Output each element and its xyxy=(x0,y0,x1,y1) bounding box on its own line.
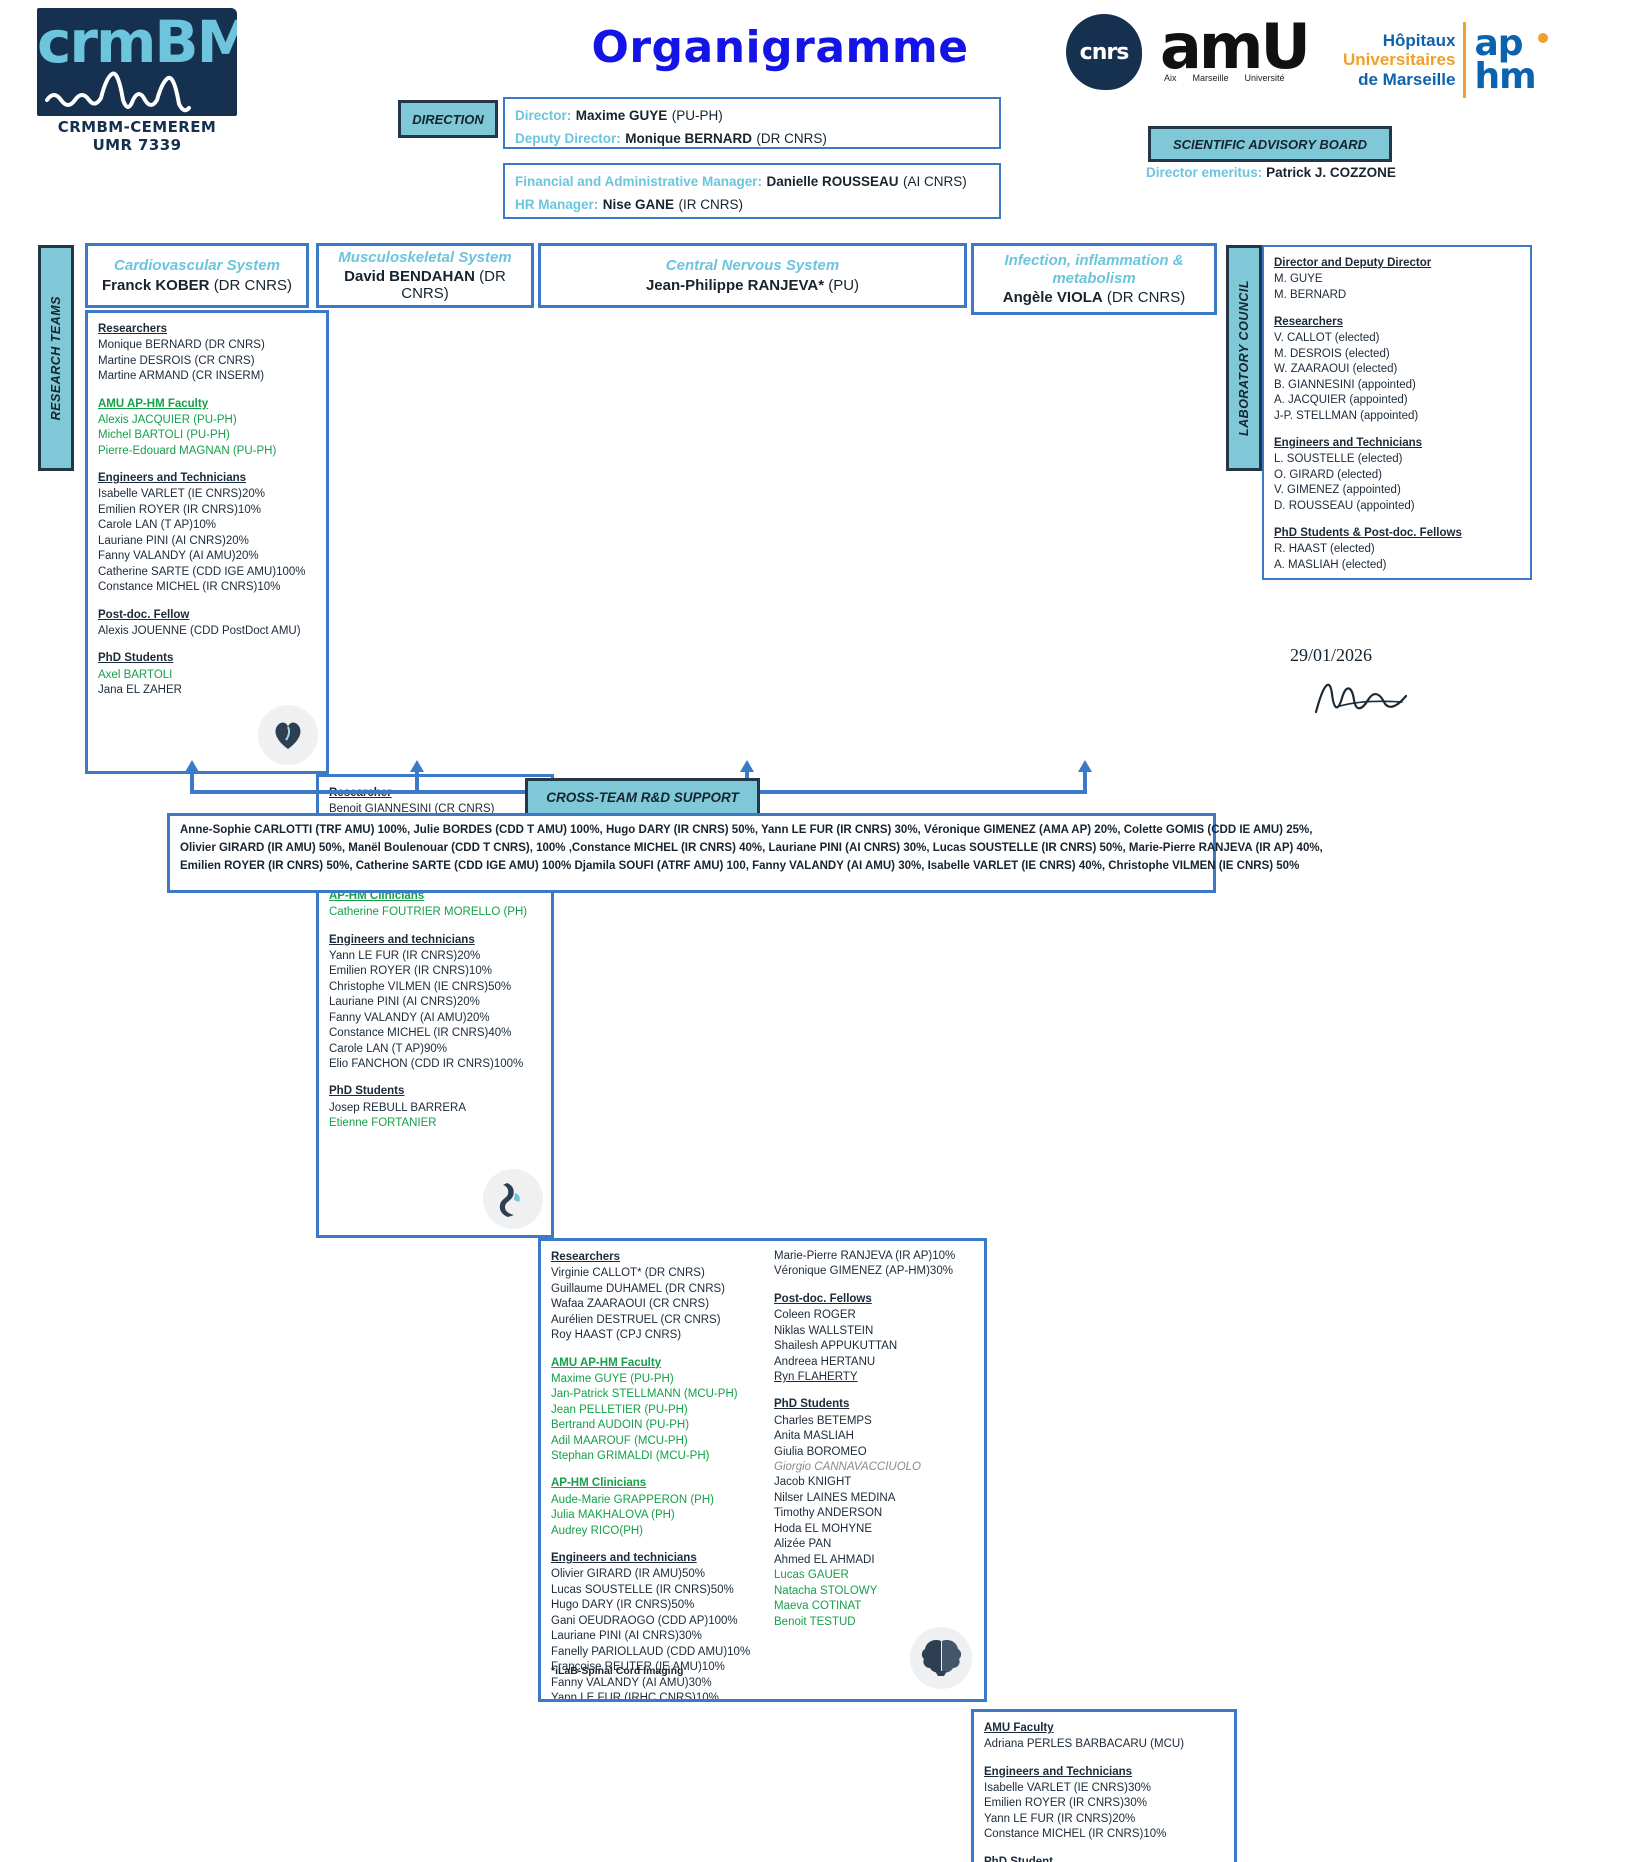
director-emeritus-row: Director emeritus: Patrick J. COZZONE xyxy=(1146,165,1396,180)
page-title: Organigramme xyxy=(520,22,1040,73)
team-name-cns: Central Nervous System xyxy=(666,257,839,274)
member-row: Monique BERNARD (DR CNRS) xyxy=(98,338,316,353)
council-member-row: L. SOUSTELLE (elected) xyxy=(1274,452,1520,467)
member-row: Adil MAAROUF (MCU-PH) xyxy=(551,1434,756,1449)
council-member-row: M. BERNARD xyxy=(1274,288,1520,303)
laboratory-council-side-label: LABORATORY COUNCIL xyxy=(1226,245,1262,471)
section-heading: Engineers and technicians xyxy=(329,932,541,949)
member-row: Coleen ROGER xyxy=(774,1308,959,1323)
arrow-up-icon-cns xyxy=(739,760,755,774)
aphm-dot-icon xyxy=(1538,33,1548,43)
member-row: Emilien ROYER (IR CNRS)10% xyxy=(98,503,316,518)
member-row: Hugo DARY (IR CNRS)50% xyxy=(551,1598,756,1613)
member-row: Ahmed EL AHMADI xyxy=(774,1553,959,1568)
section-heading: Researchers xyxy=(551,1249,756,1266)
member-row: Constance MICHEL (IR CNRS)10% xyxy=(98,580,316,595)
financial-manager-label: Financial and Administrative Manager: xyxy=(515,174,762,189)
member-row: Véronique GIMENEZ (AP-HM)30% xyxy=(774,1264,959,1279)
director-emeritus-name: Patrick J. COZZONE xyxy=(1266,165,1396,180)
section-heading: PhD Students xyxy=(329,1083,541,1100)
section-heading: AMU Faculty xyxy=(984,1720,1224,1737)
member-row: Fanelly PARIOLLAUD (CDD AMU)10% xyxy=(551,1645,756,1660)
member-row: Emilien ROYER (IR CNRS)30% xyxy=(984,1796,1224,1811)
aphm-hm-text: hm xyxy=(1474,60,1535,93)
team-leader-cardiovascular: Franck KOBER xyxy=(102,277,210,294)
director-name: Maxime GUYE xyxy=(576,108,668,123)
team-body-cns: ResearchersVirginie CALLOT* (DR CNRS)Gui… xyxy=(538,1238,987,1702)
council-member-row: A. JACQUIER (appointed) xyxy=(1274,393,1520,408)
member-row: Maeva COTINAT xyxy=(774,1599,959,1614)
amu-logo-text: amU xyxy=(1160,18,1330,77)
crmbm-logo: crmBM CRMBM-CEMEREM UMR 7339 xyxy=(37,8,237,133)
section-heading: Researchers xyxy=(98,321,316,338)
member-row: Olivier GIRARD (IR AMU)50% xyxy=(551,1567,756,1582)
section-spacer xyxy=(1274,424,1520,435)
member-row: Wafaa ZAARAOUI (CR CNRS) xyxy=(551,1297,756,1312)
member-row: Audrey RICO(PH) xyxy=(551,1524,756,1539)
council-member-row: V. GIMENEZ (appointed) xyxy=(1274,483,1520,498)
council-member-row: O. GIRARD (elected) xyxy=(1274,468,1520,483)
director-rank: (PU-PH) xyxy=(672,108,723,123)
crmbm-waveform-icon xyxy=(45,70,229,114)
section-spacer xyxy=(984,1843,1224,1854)
section-heading: AP-HM Clinicians xyxy=(551,1475,756,1492)
member-row: Timothy ANDERSON xyxy=(774,1506,959,1521)
amu-logo-sub-marseille: Marseille xyxy=(1193,73,1229,83)
member-row: Axel BARTOLI xyxy=(98,668,316,683)
member-row: Andreea HERTANU xyxy=(774,1355,959,1370)
team-header-cardiovascular[interactable]: Cardiovascular System Franck KOBER (DR C… xyxy=(85,243,309,308)
deputy-director-name: Monique BERNARD xyxy=(625,131,752,146)
laboratory-council-box: Director and Deputy DirectorM. GUYEM. BE… xyxy=(1262,245,1532,580)
section-spacer xyxy=(1274,514,1520,525)
cnrs-logo-text: cnrs xyxy=(1080,40,1129,65)
member-row: Niklas WALLSTEIN xyxy=(774,1324,959,1339)
section-spacer xyxy=(98,385,316,396)
aphm-line-1: Hôpitaux xyxy=(1343,31,1455,50)
member-row: Yann LE FUR (IRHC CNRS)10% xyxy=(551,1691,756,1702)
section-heading: PhD Students xyxy=(98,650,316,667)
team-name-musculoskeletal: Musculoskeletal System xyxy=(338,249,511,266)
amu-logo: amU Aix Marseille Université xyxy=(1160,18,1330,98)
team-body-cardiovascular: ResearchersMonique BERNARD (DR CNRS)Mart… xyxy=(85,310,329,774)
cnrs-logo: cnrs xyxy=(1066,14,1144,92)
section-spacer xyxy=(98,596,316,607)
cns-footnote: *iLaB-Spinal Cord Imaging xyxy=(551,1665,683,1677)
cns-column-left: ResearchersVirginie CALLOT* (DR CNRS)Gui… xyxy=(551,1249,756,1702)
aphm-line-3: de Marseille xyxy=(1343,70,1455,89)
scientific-advisory-board-chip: SCIENTIFIC ADVISORY BOARD xyxy=(1148,126,1392,162)
team-name-infection: Infection, inflammation & metabolism xyxy=(974,252,1214,287)
team-leader-rank-infection: (DR CNRS) xyxy=(1107,289,1185,306)
director-label: Director: xyxy=(515,108,571,123)
member-row: Christophe VILMEN (IE CNRS)50% xyxy=(329,980,541,995)
member-row: Isabelle VARLET (IE CNRS)30% xyxy=(984,1781,1224,1796)
council-member-row: M. DESROIS (elected) xyxy=(1274,347,1520,362)
member-row: Lucas GAUER xyxy=(774,1568,959,1583)
team-header-infection[interactable]: Infection, inflammation & metabolism Ang… xyxy=(971,243,1217,315)
member-row: Yann LE FUR (IR CNRS)20% xyxy=(984,1812,1224,1827)
council-member-row: A. MASLIAH (elected) xyxy=(1274,558,1520,573)
member-row: Maxime GUYE (PU-PH) xyxy=(551,1372,756,1387)
member-row: Catherine FOUTRIER MORELLO (PH) xyxy=(329,905,541,920)
member-row: Aude-Marie GRAPPERON (PH) xyxy=(551,1493,756,1508)
member-row: Catherine SARTE (CDD IGE AMU)100% xyxy=(98,565,316,580)
cross-team-support-box: Anne-Sophie CARLOTTI (TRF AMU) 100%, Jul… xyxy=(167,813,1216,893)
section-spacer xyxy=(774,1280,959,1291)
document-date: 29/01/2026 xyxy=(1290,645,1372,666)
member-row: Marie-Pierre RANJEVA (IR AP)10% xyxy=(774,1249,959,1264)
member-row: Stephan GRIMALDI (MCU-PH) xyxy=(551,1449,756,1464)
member-row: Giorgio CANNAVACCIUOLO xyxy=(774,1460,959,1475)
council-member-row: D. ROUSSEAU (appointed) xyxy=(1274,499,1520,514)
crmbm-logo-box: crmBM xyxy=(37,8,237,116)
section-spacer xyxy=(551,1464,756,1475)
member-row: Julia MAKHALOVA (PH) xyxy=(551,1508,756,1523)
member-row: Michel BARTOLI (PU-PH) xyxy=(98,428,316,443)
section-heading: Engineers and Technicians xyxy=(984,1764,1224,1781)
section-spacer xyxy=(329,921,541,932)
member-row: Jacob KNIGHT xyxy=(774,1475,959,1490)
financial-manager-name: Danielle ROUSSEAU xyxy=(767,174,899,189)
member-row: Martine ARMAND (CR INSERM) xyxy=(98,369,316,384)
aphm-divider xyxy=(1463,22,1466,98)
section-spacer xyxy=(984,1753,1224,1764)
team-leader-infection: Angèle VIOLA xyxy=(1003,289,1103,306)
member-row: Bertrand AUDOIN (PU-PH) xyxy=(551,1418,756,1433)
arrow-up-icon-msk xyxy=(409,760,425,774)
aphm-logo: Hôpitaux Universitaires de Marseille ap … xyxy=(1343,20,1543,100)
section-heading: PhD Student xyxy=(984,1854,1224,1862)
member-row: Giulia BOROMEO xyxy=(774,1445,959,1460)
team-leader-musculoskeletal: David BENDAHAN xyxy=(344,268,475,285)
cross-team-line: Emilien ROYER (IR CNRS) 50%, Catherine S… xyxy=(180,858,1203,876)
member-row: Natacha STOLOWY xyxy=(774,1584,959,1599)
section-spacer xyxy=(551,1344,756,1355)
member-row: Pierre-Edouard MAGNAN (PU-PH) xyxy=(98,444,316,459)
section-spacer xyxy=(551,1539,756,1550)
section-heading: Post-doc. Fellow xyxy=(98,607,316,624)
member-row: Josep REBULL BARRERA xyxy=(329,1101,541,1116)
member-row: Jan-Patrick STELLMANN (MCU-PH) xyxy=(551,1387,756,1402)
member-row: Elio FANCHON (CDD IR CNRS)100% xyxy=(329,1057,541,1072)
administration-box: Financial and Administrative Manager: Da… xyxy=(503,163,1001,219)
member-row: Nilser LAINES MEDINA xyxy=(774,1491,959,1506)
deputy-director-rank: (DR CNRS) xyxy=(756,131,827,146)
member-row: Aurélien DESTRUEL (CR CNRS) xyxy=(551,1313,756,1328)
team-leader-rank-cardiovascular: (DR CNRS) xyxy=(214,277,292,294)
director-emeritus-label: Director emeritus: xyxy=(1146,165,1262,180)
crmbm-logo-text: crmBM xyxy=(37,13,237,71)
member-row: Adriana PERLES BARBACARU (MCU) xyxy=(984,1737,1224,1752)
member-row: Roy HAAST (CPJ CNRS) xyxy=(551,1328,756,1343)
team-header-musculoskeletal[interactable]: Musculoskeletal System David BENDAHAN (D… xyxy=(316,243,534,308)
member-row: Anita MASLIAH xyxy=(774,1429,959,1444)
member-row: Lauriane PINI (AI CNRS)20% xyxy=(329,995,541,1010)
member-row: Fanny VALANDY (AI AMU)20% xyxy=(329,1011,541,1026)
amu-logo-sub-universite: Université xyxy=(1245,73,1285,83)
heart-icon xyxy=(258,705,318,765)
direction-chip: DIRECTION xyxy=(398,100,498,138)
council-member-row: B. GIANNESINI (appointed) xyxy=(1274,378,1520,393)
member-row: Constance MICHEL (IR CNRS)10% xyxy=(984,1827,1224,1842)
member-row: Carole LAN (T AP)90% xyxy=(329,1042,541,1057)
member-row: Etienne FORTANIER xyxy=(329,1116,541,1131)
member-row: Ryn FLAHERTY xyxy=(774,1370,959,1385)
cross-team-chip: CROSS-TEAM R&D SUPPORT xyxy=(525,778,760,816)
council-section-heading: Director and Deputy Director xyxy=(1274,255,1520,272)
member-row: Guillaume DUHAMEL (DR CNRS) xyxy=(551,1282,756,1297)
member-row: Gani OEUDRAOGO (CDD AP)100% xyxy=(551,1614,756,1629)
section-heading: AMU AP-HM Faculty xyxy=(551,1355,756,1372)
arrow-up-icon-cv xyxy=(184,760,200,774)
team-name-cardiovascular: Cardiovascular System xyxy=(114,257,280,274)
hr-manager-rank: (IR CNRS) xyxy=(678,197,743,212)
council-member-row: W. ZAARAOUI (elected) xyxy=(1274,362,1520,377)
section-spacer xyxy=(98,639,316,650)
council-member-row: M. GUYE xyxy=(1274,272,1520,287)
aphm-line-2: Universitaires xyxy=(1343,50,1455,69)
section-spacer xyxy=(774,1385,959,1396)
section-heading: Post-doc. Fellows xyxy=(774,1291,959,1308)
member-row: Martine DESROIS (CR CNRS) xyxy=(98,354,316,369)
council-member-row: J-P. STELLMAN (appointed) xyxy=(1274,409,1520,424)
member-row: Emilien ROYER (IR CNRS)10% xyxy=(329,964,541,979)
member-row: Jana EL ZAHER xyxy=(98,683,316,698)
deputy-director-label: Deputy Director: xyxy=(515,131,621,146)
member-row: Alizée PAN xyxy=(774,1537,959,1552)
member-row: Virginie CALLOT* (DR CNRS) xyxy=(551,1266,756,1281)
section-heading: AMU AP-HM Faculty xyxy=(98,396,316,413)
member-row: Isabelle VARLET (IE CNRS)20% xyxy=(98,487,316,502)
member-row: Shailesh APPUKUTTAN xyxy=(774,1339,959,1354)
member-row: Lucas SOUSTELLE (IR CNRS)50% xyxy=(551,1583,756,1598)
member-row: Lauriane PINI (AI CNRS)30% xyxy=(551,1629,756,1644)
member-row: Alexis JACQUIER (PU-PH) xyxy=(98,413,316,428)
section-spacer xyxy=(1274,303,1520,314)
member-row: Hoda EL MOHYNE xyxy=(774,1522,959,1537)
hr-manager-name: Nise GANE xyxy=(603,197,674,212)
team-header-cns[interactable]: Central Nervous System Jean-Philippe RAN… xyxy=(538,243,967,308)
member-row: Lauriane PINI (AI CNRS)20% xyxy=(98,534,316,549)
member-row: Alexis JOUENNE (CDD PostDoct AMU) xyxy=(98,624,316,639)
section-spacer xyxy=(98,459,316,470)
member-row: Yann LE FUR (IR CNRS)20% xyxy=(329,949,541,964)
section-heading: PhD Students xyxy=(774,1396,959,1413)
cross-team-line: Olivier GIRARD (IR AMU) 50%, Manël Boule… xyxy=(180,840,1203,858)
team-body-infection: I2M AMU FacultyAdriana PERLES BARBACARU … xyxy=(971,1709,1237,1862)
research-teams-side-label-text: RESEARCH TEAMS xyxy=(49,296,63,420)
section-heading: Engineers and Technicians xyxy=(98,470,316,487)
council-section-heading: PhD Students & Post-doc. Fellows xyxy=(1274,525,1520,542)
section-heading: Engineers and technicians xyxy=(551,1550,756,1567)
knee-icon xyxy=(483,1169,543,1229)
council-section-heading: Engineers and Technicians xyxy=(1274,435,1520,452)
cross-team-line: Anne-Sophie CARLOTTI (TRF AMU) 100%, Jul… xyxy=(180,822,1203,840)
member-row: Fanny VALANDY (AI AMU)30% xyxy=(551,1676,756,1691)
member-row: Jean PELLETIER (PU-PH) xyxy=(551,1403,756,1418)
council-section-heading: Researchers xyxy=(1274,314,1520,331)
member-row: Fanny VALANDY (AI AMU)20% xyxy=(98,549,316,564)
laboratory-council-side-label-text: LABORATORY COUNCIL xyxy=(1237,280,1251,436)
brain-icon xyxy=(910,1627,972,1689)
member-row: Carole LAN (T AP)10% xyxy=(98,518,316,533)
amu-logo-sub-aix: Aix xyxy=(1164,73,1177,83)
hr-manager-label: HR Manager: xyxy=(515,197,598,212)
team-leader-rank-cns: (PU) xyxy=(828,277,859,294)
council-member-row: R. HAAST (elected) xyxy=(1274,542,1520,557)
council-member-row: V. CALLOT (elected) xyxy=(1274,331,1520,346)
research-teams-side-label: RESEARCH TEAMS xyxy=(38,245,74,471)
section-spacer xyxy=(329,1072,541,1083)
member-row: Constance MICHEL (IR CNRS)40% xyxy=(329,1026,541,1041)
financial-manager-rank: (AI CNRS) xyxy=(903,174,967,189)
direction-box: Director: Maxime GUYE (PU-PH) Deputy Dir… xyxy=(503,97,1001,149)
signature-icon xyxy=(1310,672,1420,722)
crmbm-logo-caption: CRMBM-CEMEREM UMR 7339 xyxy=(37,118,237,154)
team-leader-cns: Jean-Philippe RANJEVA* xyxy=(646,277,824,294)
member-row: Charles BETEMPS xyxy=(774,1414,959,1429)
arrow-up-icon-inf xyxy=(1077,760,1093,774)
